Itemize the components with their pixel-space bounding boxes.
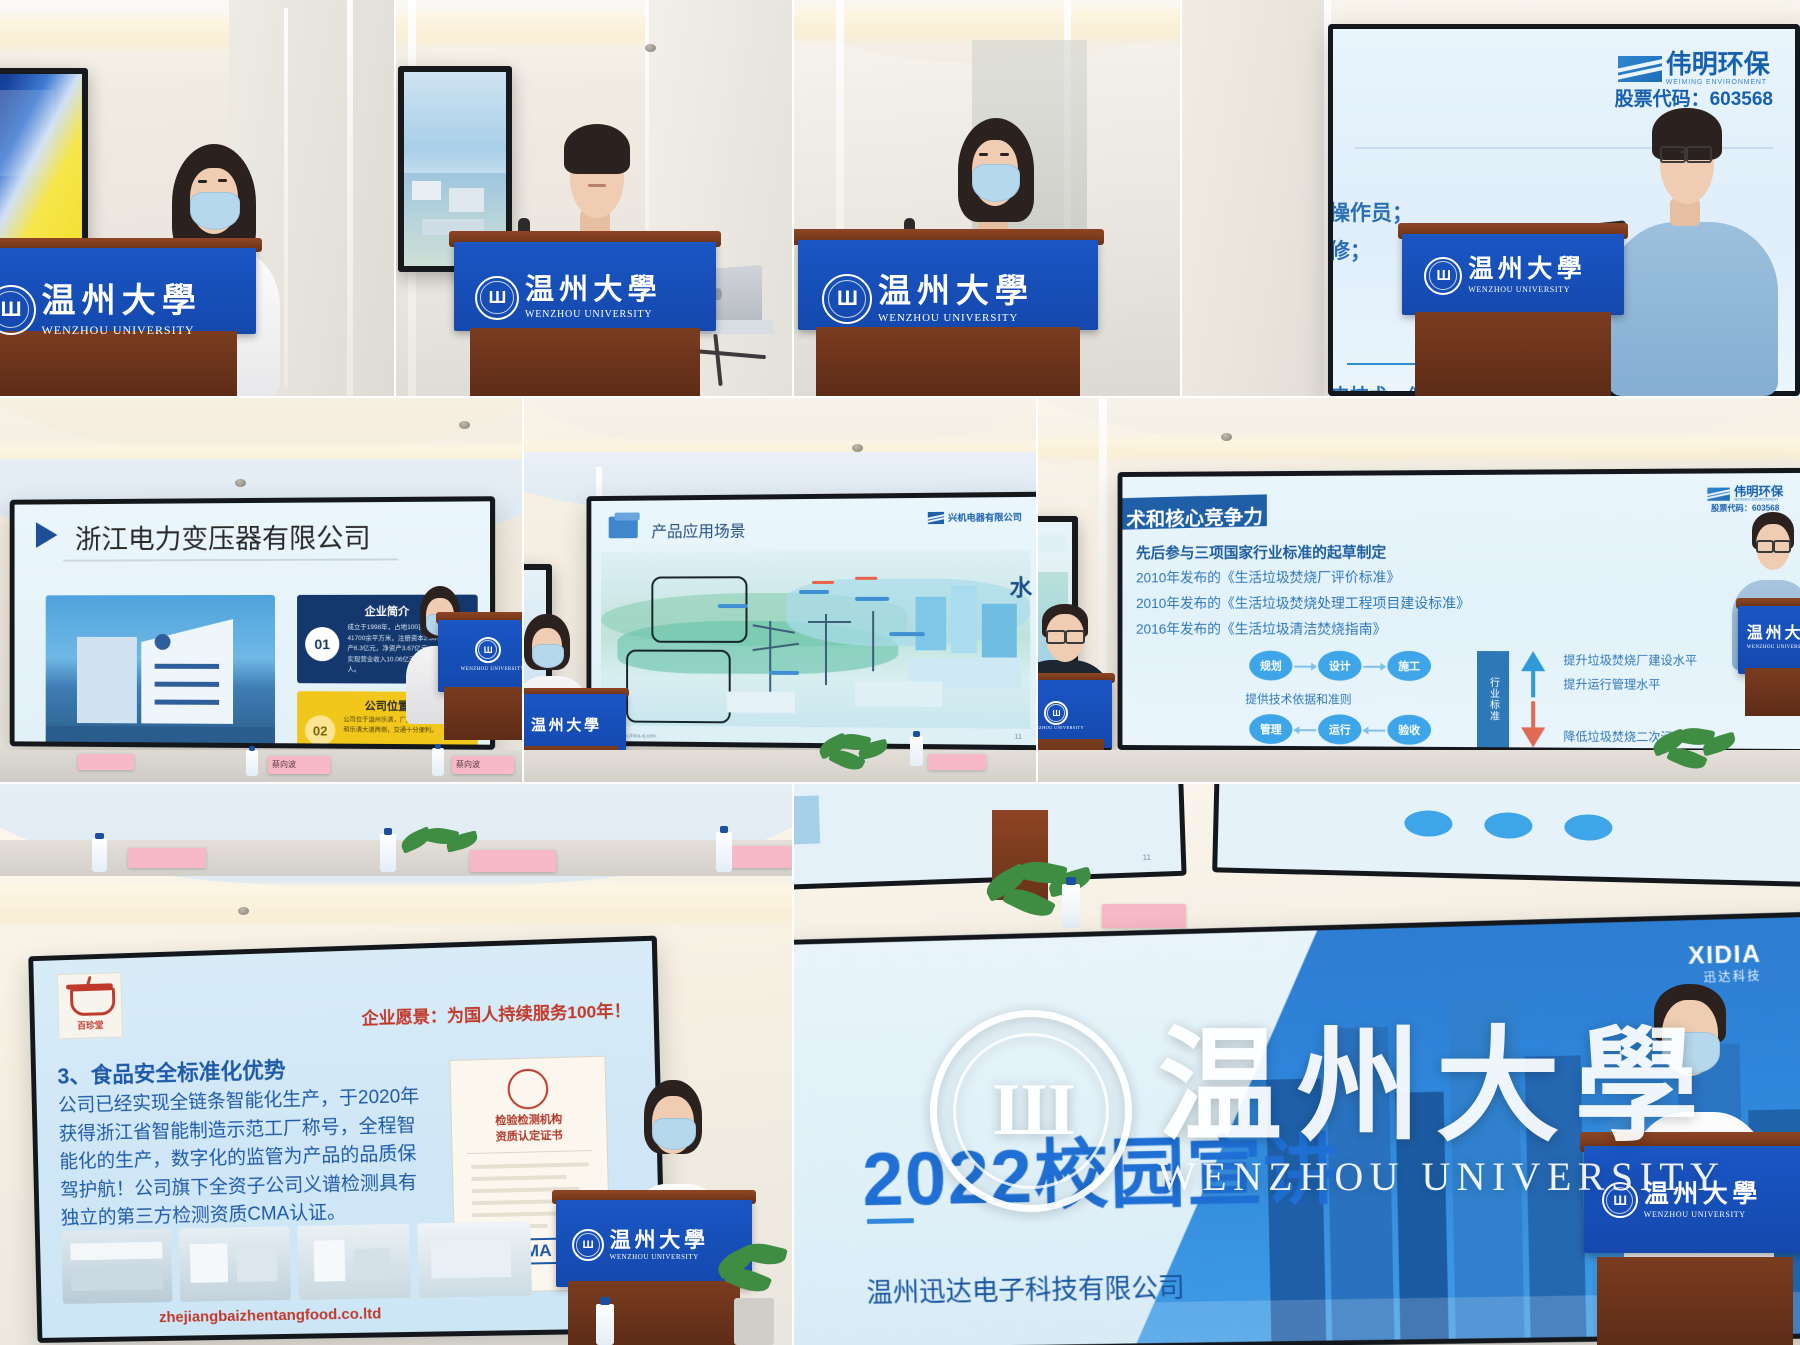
- certificate-subtitle: 资质认定证书: [452, 1125, 607, 1145]
- seal-glyph: Ш: [478, 640, 497, 659]
- baizhentang-logo: 百珍堂: [57, 972, 123, 1039]
- podium-en-name: WENZHOU UNIVERSITY: [42, 324, 202, 336]
- potted-plant: [398, 828, 484, 876]
- water-bottle: [246, 750, 258, 776]
- vision-label: 企业愿景：: [361, 1002, 447, 1030]
- podium-cn-name: 温州大學: [531, 718, 602, 733]
- university-seal-icon: Ш: [475, 637, 501, 663]
- seal-glyph: Ш: [480, 281, 513, 314]
- name-card: [928, 754, 986, 770]
- collage-seam: [0, 396, 1800, 398]
- university-seal-icon: Ш: [572, 1229, 604, 1261]
- podium-right: 温州大學 WENZHOU UNIVERSITY: [1738, 606, 1800, 716]
- podium: Ш 温州大學 WENZHOU UNIVERSITY: [1402, 234, 1624, 396]
- podium-en-name: WENZHOU UNIVERSITY: [878, 313, 1034, 324]
- up-arrow-icon: [1521, 651, 1545, 671]
- water-bottle: [432, 748, 444, 776]
- flow-node-design: 设计: [1318, 651, 1361, 681]
- collage-seam: [1180, 0, 1182, 396]
- podium-en-name: WENZHOU UNIVERSITY: [1468, 286, 1586, 294]
- podium-en-name: WENZHOU UNIVERSITY: [525, 310, 662, 320]
- water-bottle: [910, 736, 923, 766]
- standards-pillar: 行业标准: [1477, 651, 1509, 747]
- collage-seam: [522, 398, 524, 782]
- flow-node-operate: 运行: [1318, 714, 1361, 744]
- seal-glyph: Ш: [1047, 704, 1065, 722]
- slide-line-4: 2016年发布的《生活垃圾清洁焚烧指南》: [1136, 619, 1386, 639]
- standards-pillar-label: 行业标准: [1485, 677, 1500, 722]
- slide-weiming-core-competence: 伟明环保 WEIMING ENVIRONMENT 股票代码：603568 术和核…: [1122, 473, 1800, 749]
- weiming-logo-en: WEIMING ENVIRONMENT: [1734, 498, 1783, 502]
- weiming-logo-cn: 伟明环保: [1734, 485, 1783, 497]
- company-photo: [46, 595, 275, 745]
- collage-seam: [792, 0, 794, 396]
- outcome-2: 提升运行管理水平: [1563, 675, 1660, 692]
- podium-en-name: WENZHOU UNIVERSITY: [461, 667, 522, 672]
- name-card-text: 蔡向波: [272, 759, 296, 770]
- podium-en-name: WENZHOU UNIVERSITY: [610, 1254, 709, 1261]
- podium-cn-name: 温州大學: [1747, 626, 1800, 642]
- collage-seam: [0, 782, 1800, 784]
- panel-product-application-slide: 产品应用场景 兴机电器有限公司: [524, 398, 1036, 782]
- flow-node-accept: 验收: [1387, 715, 1431, 745]
- name-card: 蔡向波: [452, 756, 514, 774]
- chevron-right-icon: [36, 522, 57, 548]
- weiming-logo-cn: 伟明环保: [1666, 51, 1770, 77]
- flow-caption: 提供技术依据和准则: [1245, 690, 1351, 707]
- weiming-logo-en: WEIMING ENVIRONMENT: [1666, 79, 1770, 86]
- podium-cn-name: 温州大學: [1644, 1182, 1762, 1207]
- water-bottle: [380, 834, 396, 872]
- face-mask: [972, 164, 1020, 202]
- water-bottle: [716, 832, 732, 872]
- vision-text: 为国人持续服务100年！: [447, 996, 632, 1027]
- led-wall: 产品应用场景 兴机电器有限公司: [587, 492, 1036, 751]
- name-card: [724, 846, 792, 868]
- name-card: 蔡向波: [268, 756, 330, 774]
- university-seal-icon: Ш: [1044, 701, 1068, 725]
- name-card-text: 蔡向波: [456, 759, 480, 770]
- podium: Ш 温州大學 WENZHOU UNIVERSITY: [454, 242, 716, 396]
- glasses-icon: [1046, 630, 1066, 644]
- name-card: [128, 848, 206, 868]
- slide-title: 术和核心竞争力: [1126, 500, 1263, 532]
- university-seal-icon: Ш: [1602, 1182, 1638, 1218]
- university-seal-icon: Ш: [822, 274, 872, 324]
- flow-node-manage: 管理: [1249, 714, 1292, 744]
- slide-title: 产品应用场景: [651, 518, 745, 542]
- face-mask: [652, 1118, 696, 1150]
- company-logo: 兴机电器有限公司: [928, 511, 1022, 524]
- panel-female-presenter-dark-blazer: Ш 温州大學 WENZHOU UNIVERSITY: [794, 0, 1180, 396]
- slide-line-2: 2010年发布的《生活垃圾焚烧厂评价标准》: [1136, 567, 1400, 587]
- potted-plant: [716, 1244, 792, 1345]
- glasses-icon: [1686, 146, 1712, 163]
- podium: Ш WENZHOU UNIVERSITY: [438, 620, 522, 740]
- logo-caption: 百珍堂: [59, 1018, 122, 1033]
- panel-weiming-presenter: 伟明环保 WEIMING ENVIRONMENT 股票代码：603568 操作员…: [1182, 0, 1800, 396]
- slide-company: 温州迅达电子科技有限公司: [866, 1266, 1185, 1310]
- water-bottle: [1062, 884, 1080, 928]
- collage-seam: [1036, 398, 1038, 782]
- speaker-person: [1612, 96, 1776, 396]
- panel-weiming-core-competence-slide: 伟明环保 WEIMING ENVIRONMENT 股票代码：603568 术和核…: [1038, 398, 1800, 782]
- panel-male-speaker-with-microphone: Ш 温州大學 WENZHOU UNIVERSITY: [396, 0, 792, 396]
- slide-url: zhejiangbaizhentangfood.co.ltd: [159, 1305, 382, 1326]
- university-seal-icon: Ш: [1424, 257, 1462, 295]
- lab-photo: [297, 1224, 411, 1300]
- slide-body: 公司已经实现全链条智能化生产，于2020年获得浙江省智能制造示范工厂称号，全程智…: [58, 1083, 427, 1234]
- slide-line-1: 先后参与三项国家行业标准的起草制定: [1136, 541, 1386, 562]
- podium-cn-name: 温州大學: [610, 1230, 709, 1251]
- panel-food-safety-slide: 百珍堂 企业愿景： 为国人持续服务100年！ 3、食品安全标准化优势 公司已经实…: [0, 784, 792, 1345]
- face-mask: [190, 192, 240, 230]
- callout-box: [626, 649, 731, 723]
- xidia-logo-en: XIDIA: [1688, 943, 1762, 969]
- glasses-icon: [1756, 540, 1774, 553]
- outcome-1: 提升垃圾焚烧厂建设水平: [1563, 651, 1697, 668]
- panel-transformer-company-slide: 浙江电力变压器有限公司 企业简介 01 成立于1998: [0, 398, 522, 782]
- slide-title: 浙江电力变压器有限公司: [75, 516, 371, 556]
- info-card-number: 02: [305, 715, 335, 744]
- lab-photo: [417, 1221, 532, 1298]
- flow-node-construct: 施工: [1387, 651, 1431, 681]
- podium-cn-name: 温州大學: [1468, 257, 1586, 282]
- xidia-logo-cn: 迅达科技: [1704, 970, 1762, 984]
- glasses-icon: [1660, 146, 1686, 163]
- slide-right-label: 水: [1010, 570, 1033, 603]
- seal-glyph: Ш: [1606, 1187, 1633, 1214]
- collage-seam: [792, 784, 794, 1345]
- down-arrow-icon: [1521, 727, 1545, 747]
- panel-campus-recruitment-slide: 11: [794, 784, 1800, 1345]
- potted-plant: [1650, 728, 1746, 782]
- water-bottle: [596, 1304, 614, 1345]
- photo-collage: Ш 温州大學 WENZHOU UNIVERSITY: [0, 0, 1800, 1345]
- podium: Ш 温州大學 WENZHOU UNIVERSITY: [798, 240, 1098, 396]
- podium-cn-name: 温州大學: [878, 274, 1034, 307]
- podium: Ш 温州大學 WENZHOU UNIVERSITY: [1584, 1146, 1800, 1345]
- seal-glyph: Ш: [576, 1233, 600, 1257]
- potted-plant: [814, 734, 894, 782]
- face-mask: [1662, 1032, 1720, 1074]
- slide-bullet-2: 修；: [1333, 235, 1371, 265]
- certificate-seal-icon: [507, 1068, 549, 1109]
- lab-photo: [61, 1229, 172, 1304]
- glasses-icon: [1773, 540, 1791, 553]
- face-mask: [532, 644, 564, 668]
- slide-heading: 3、食品安全标准化优势: [57, 1053, 286, 1091]
- xidia-logo: XIDIA 迅达科技: [1688, 943, 1762, 984]
- seal-glyph: Ш: [0, 291, 29, 329]
- panel-female-speaker-at-podium: Ш 温州大學 WENZHOU UNIVERSITY: [0, 0, 394, 396]
- seal-glyph: Ш: [1429, 261, 1458, 290]
- title-underline: [867, 1218, 914, 1224]
- podium-en-name: WENZHOU UNIVERSITY: [1038, 726, 1084, 730]
- lab-photo: [179, 1226, 291, 1302]
- podium-cn-name: 温州大學: [42, 284, 202, 318]
- slide-line-3: 2010年发布的《生活垃圾焚烧处理工程项目建设标准》: [1136, 593, 1470, 613]
- potted-plant: [982, 862, 1098, 930]
- slide-title: 2022校园宣讲: [861, 1108, 1342, 1227]
- university-seal-icon: Ш: [475, 276, 519, 320]
- seal-glyph: Ш: [828, 280, 866, 318]
- podium: Ш 温州大學 WENZHOU UNIVERSITY: [0, 248, 256, 396]
- info-card-number: 01: [305, 627, 339, 661]
- name-card: [1102, 904, 1186, 928]
- weiming-logo: 伟明环保 WEIMING ENVIRONMENT 股票代码：603568: [1707, 485, 1783, 512]
- university-seal-icon: Ш: [0, 285, 36, 335]
- callout-box: [651, 576, 748, 643]
- slide-page-number: 11: [1014, 734, 1022, 741]
- folder-icon-back: [615, 512, 640, 520]
- flow-node-plan: 规划: [1249, 651, 1292, 681]
- led-wall: 伟明环保 WEIMING ENVIRONMENT 股票代码：603568 术和核…: [1118, 468, 1800, 754]
- collage-seam: [394, 0, 396, 396]
- slide-product-application: 产品应用场景 兴机电器有限公司: [591, 497, 1036, 745]
- company-logo-text: 兴机电器有限公司: [948, 513, 1022, 523]
- water-bottle: [92, 838, 107, 872]
- name-card: [78, 754, 134, 770]
- podium-en-name: WENZHOU UNIVERSITY: [1747, 645, 1800, 650]
- podium-en-name: WENZHOU UNIVERSITY: [1644, 1211, 1762, 1219]
- podium-cn-name: 温州大學: [525, 276, 662, 305]
- glasses-icon: [1065, 630, 1085, 644]
